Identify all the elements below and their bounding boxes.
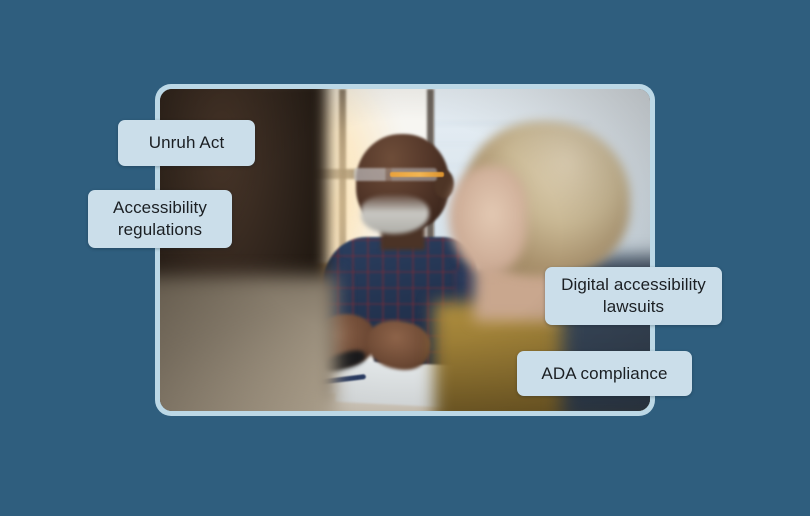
keyword-chip-ada-compliance[interactable]: ADA compliance bbox=[517, 351, 692, 396]
woman-face bbox=[449, 166, 527, 272]
man-glasses-temple bbox=[390, 172, 444, 177]
keyword-chip-digital-accessibility-lawsuits[interactable]: Digital accessibility lawsuits bbox=[545, 267, 722, 325]
foreground-shoulder bbox=[160, 276, 336, 411]
canvas: Unruh Act Accessibility regulations Digi… bbox=[0, 0, 810, 516]
keyword-chip-accessibility-regulations[interactable]: Accessibility regulations bbox=[88, 190, 232, 248]
keyword-chip-unruh-act[interactable]: Unruh Act bbox=[118, 120, 255, 166]
